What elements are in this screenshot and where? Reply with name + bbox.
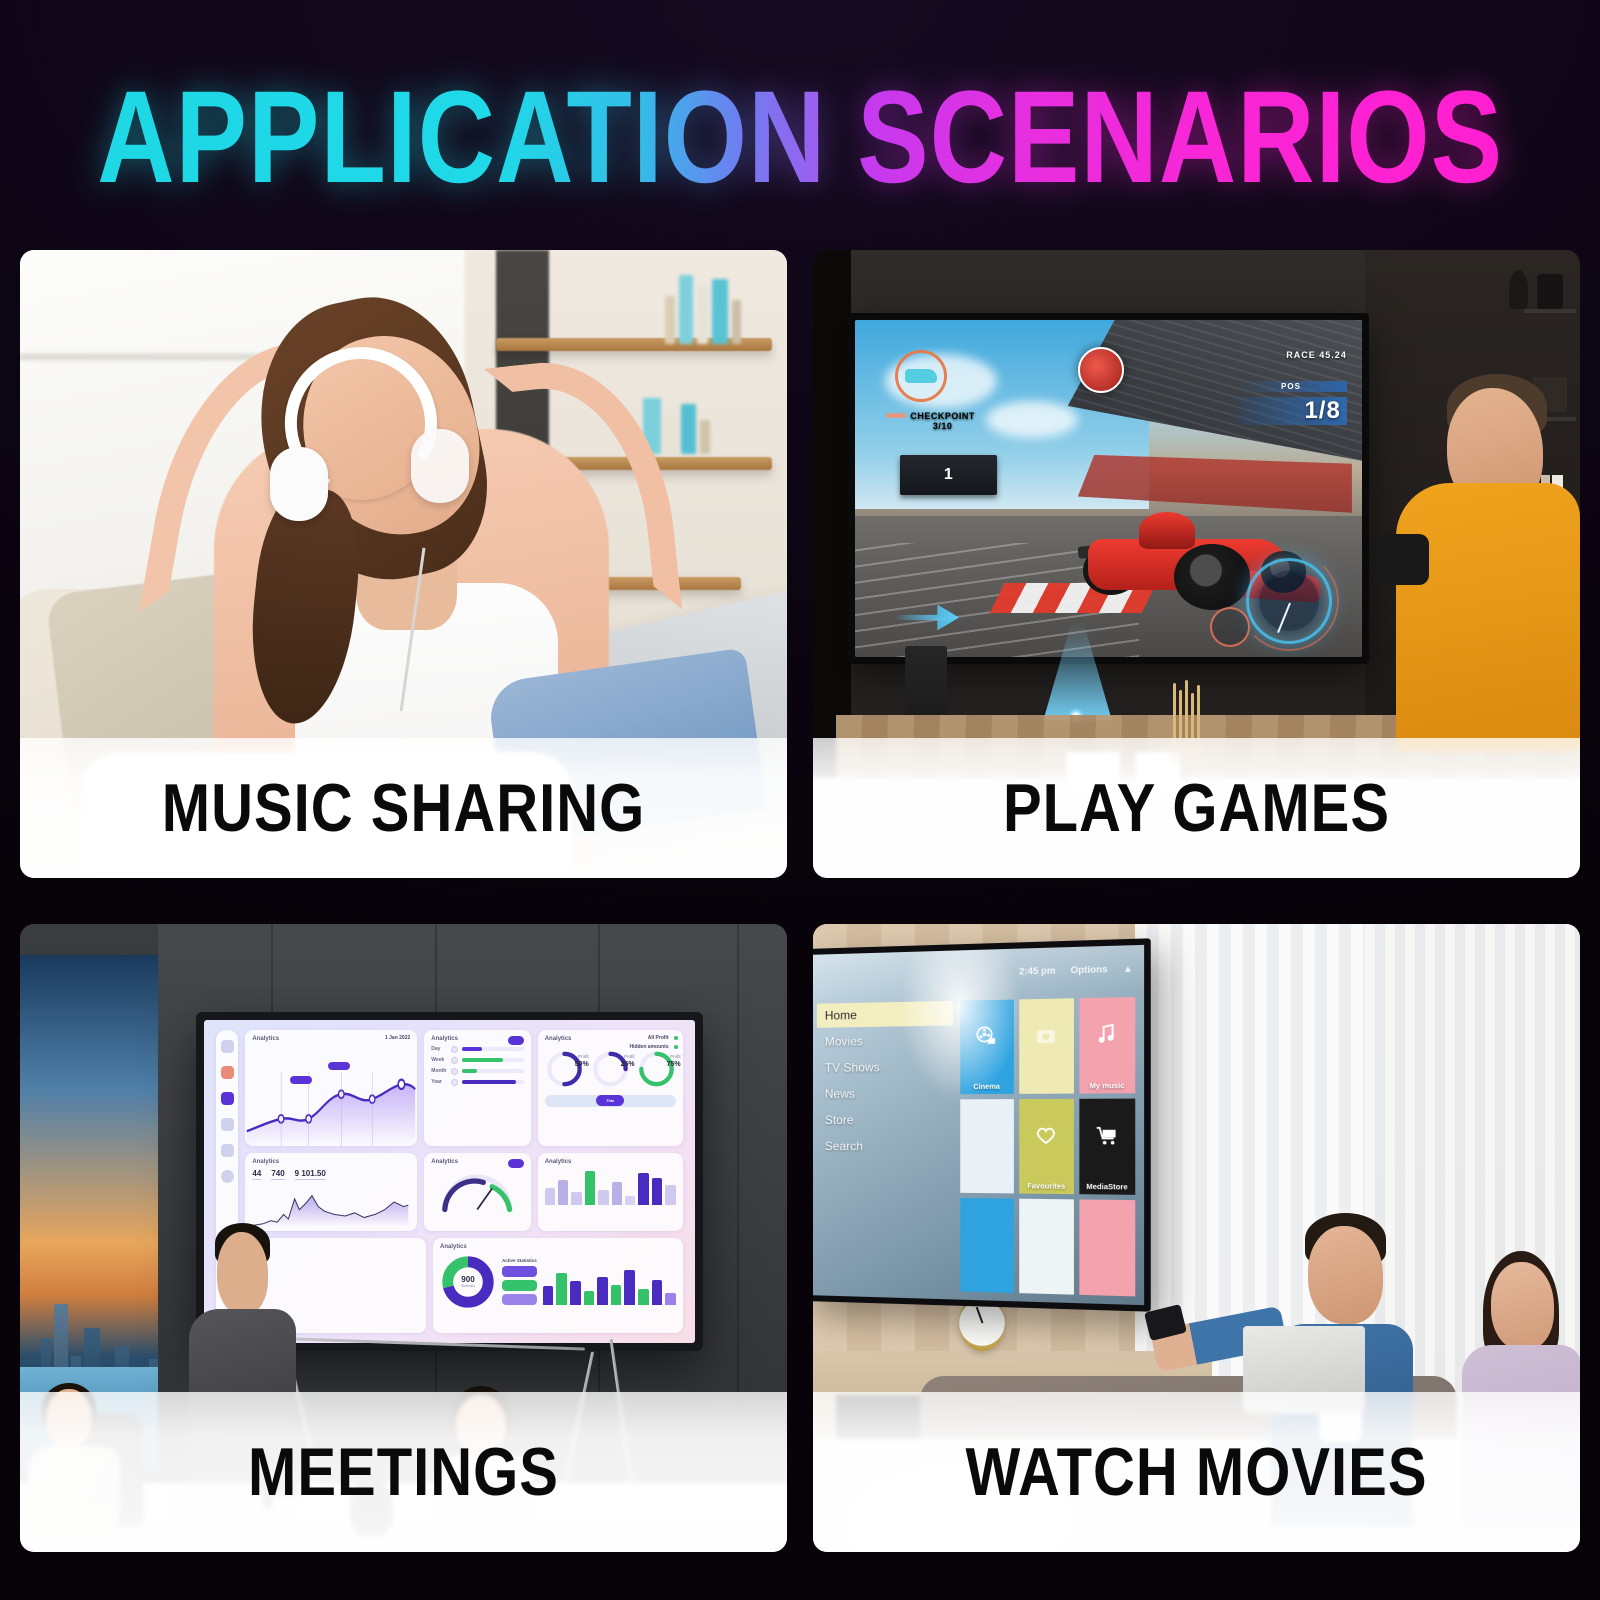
dashboard-card-profit: Analytics All Profit Hidden amounts: [538, 1030, 683, 1146]
heart-icon: [1035, 1125, 1059, 1146]
scenario-grid: MUSIC SHARING: [20, 250, 1580, 1580]
watch-movies-caption: WATCH MOVIES: [965, 1433, 1427, 1511]
period-segmented-control[interactable]: This: [545, 1095, 676, 1107]
tv-menu[interactable]: Home Movies TV Shows News Store Search: [817, 1001, 953, 1291]
game-projector-screen: CHECKPOINT 3/10 1 RACE 45.24 POS 1/8: [848, 313, 1370, 665]
scenario-card-music-sharing[interactable]: MUSIC SHARING: [20, 250, 787, 878]
tv-menu-item-news[interactable]: News: [817, 1081, 953, 1106]
tv-screen: 2:45 pm Options ▲ Home Movies TV Shows N…: [813, 945, 1144, 1305]
hud-race-time: 45.24: [1319, 350, 1347, 360]
bar-chart: [545, 1171, 676, 1205]
tv-top-bar: 2:45 pm Options ▲: [813, 945, 1144, 999]
gamer-person: [1396, 388, 1580, 752]
dashboard-card-stats-title: Analytics: [252, 1159, 410, 1165]
dashboard-card-trend: Analytics 1 Jan 2022: [245, 1030, 417, 1146]
period-label-year: Year: [431, 1079, 447, 1085]
gauge-pill[interactable]: [508, 1159, 524, 1168]
hud-race-label: RACE: [1286, 350, 1316, 360]
film-reel-icon: [975, 1024, 998, 1047]
tv-tile-blank-3[interactable]: [1019, 1199, 1074, 1295]
tv-tile-grid[interactable]: Cinema: [960, 997, 1135, 1296]
music-sharing-caption: MUSIC SHARING: [162, 769, 645, 847]
profit-ring-3-label: Profit: [670, 1054, 681, 1059]
game-controller: [1378, 534, 1430, 585]
hud-car-badge-icon: [1078, 347, 1124, 393]
dashboard-date-label: 1 Jan 2022: [385, 1035, 410, 1041]
dashboard-card-bars-title: Analytics: [545, 1159, 676, 1165]
page-title-part2: SCENARIOS: [857, 65, 1503, 211]
tv-menu-item-search[interactable]: Search: [817, 1134, 953, 1159]
hud-track-board: 1: [900, 455, 996, 496]
page-title-part1: APPLICATION: [97, 65, 826, 211]
tv-tile-cinema[interactable]: Cinema: [960, 1000, 1014, 1094]
meetings-caption-bar: MEETINGS: [20, 1392, 787, 1552]
tv-tile-blank-2[interactable]: [960, 1198, 1014, 1293]
sidebar-icon-profile[interactable]: [221, 1040, 234, 1053]
tv-menu-item-store[interactable]: Store: [817, 1108, 953, 1133]
signal-icon: ▲: [1123, 963, 1133, 974]
sidebar-icon-reports[interactable]: [221, 1092, 234, 1105]
dashboard-card-active-title: Analytics: [440, 1244, 676, 1250]
tv-tile-my-music[interactable]: My music: [1079, 997, 1135, 1093]
scenario-card-watch-movies[interactable]: 2:45 pm Options ▲ Home Movies TV Shows N…: [813, 924, 1580, 1552]
tv-menu-item-home[interactable]: Home: [817, 1001, 953, 1028]
scenario-card-meetings[interactable]: Analytics 1 Jan 2022: [20, 924, 787, 1552]
dashboard-card-periods: Analytics Day Week Month Year: [424, 1030, 530, 1146]
hud-race-timer: RACE 45.24: [1286, 350, 1347, 360]
sidebar-icon-settings[interactable]: [221, 1170, 234, 1183]
music-sharing-caption-bar: MUSIC SHARING: [20, 738, 787, 878]
tv-tile-mediastore[interactable]: MediaStore: [1079, 1099, 1135, 1195]
smart-tv: 2:45 pm Options ▲ Home Movies TV Shows N…: [813, 938, 1151, 1311]
donut-chart: 900 Statistics: [440, 1254, 496, 1310]
tv-tile-blank-1[interactable]: [960, 1099, 1014, 1193]
stat-value-2: 740: [271, 1169, 284, 1180]
active-statistics-chips: Active Statistics: [502, 1258, 537, 1305]
scenario-card-play-games[interactable]: CHECKPOINT 3/10 1 RACE 45.24 POS 1/8: [813, 250, 1580, 878]
tv-clock: 2:45 pm: [1019, 965, 1055, 976]
camera-icon: [1036, 1026, 1057, 1045]
dashboard-card-stats: Analytics 44 740 9 101.50: [245, 1153, 417, 1231]
hud-position-label: POS: [1235, 381, 1347, 392]
hud-checkpoint-label: CHECKPOINT: [910, 411, 975, 421]
sidebar-icon-users[interactable]: [221, 1144, 234, 1157]
profit-ring-3-value: 75%: [667, 1061, 681, 1068]
play-games-caption-bar: PLAY GAMES: [813, 738, 1580, 878]
tv-tile-photos[interactable]: [1019, 999, 1074, 1094]
dashboard-card-active-stats: Analytics: [433, 1238, 683, 1333]
tv-tile-my-music-label: My music: [1090, 1083, 1125, 1091]
tv-tile-favourites-label: Favourites: [1028, 1183, 1066, 1191]
hud-checkpoint: CHECKPOINT 3/10: [910, 411, 975, 431]
stat-value-1: 44: [252, 1169, 261, 1180]
page-title: APPLICATION SCENARIOS: [0, 72, 1600, 177]
tv-tile-blank-4[interactable]: [1079, 1199, 1135, 1296]
hud-board-number: 1: [944, 466, 953, 484]
period-label-week: Week: [431, 1057, 447, 1063]
all-profit-label: All Profit: [648, 1035, 669, 1041]
tv-tile-mediastore-label: MediaStore: [1087, 1184, 1128, 1192]
shopping-cart-icon: [1095, 1125, 1119, 1146]
profit-ring-2-label: Profit: [624, 1054, 635, 1059]
profit-ring-3: Profit 75%: [637, 1049, 676, 1089]
tv-tile-cinema-label: Cinema: [974, 1084, 1001, 1091]
dashboard-card-bars: Analytics: [538, 1153, 683, 1231]
poster-root: APPLICATION SCENARIOS APPLICATION SCENAR…: [0, 0, 1600, 1600]
profit-ring-1-label: Profit: [578, 1054, 589, 1059]
period-label-month: Month: [431, 1068, 447, 1074]
tv-options-button[interactable]: Options: [1071, 964, 1108, 975]
profit-ring-1: Profit 50%: [545, 1049, 584, 1089]
active-statistics-label: Active Statistics: [502, 1258, 537, 1263]
profit-ring-2: Profit 25%: [591, 1049, 630, 1089]
play-games-caption: PLAY GAMES: [1003, 769, 1390, 847]
tv-menu-item-movies[interactable]: Movies: [817, 1028, 953, 1054]
stat-value-3: 9 101.50: [295, 1169, 326, 1180]
music-note-icon: [1097, 1023, 1117, 1044]
period-selected[interactable]: This: [596, 1095, 624, 1106]
meetings-caption: MEETINGS: [248, 1433, 559, 1511]
donut-sub: Statistics: [461, 1284, 475, 1288]
hud-speedometer-icon: [1246, 558, 1332, 644]
profit-ring-2-value: 25%: [621, 1061, 635, 1068]
hud-checkpoint-value: 3/10: [910, 421, 975, 431]
profit-ring-1-value: 50%: [575, 1061, 589, 1068]
periods-pill[interactable]: [508, 1036, 524, 1045]
tv-tile-favourites[interactable]: Favourites: [1019, 1099, 1074, 1194]
hud-position-value: 1/8: [1235, 397, 1347, 425]
sidebar-icon-wallet[interactable]: [221, 1118, 234, 1131]
dashboard-card-gauge: Analytics: [424, 1153, 530, 1231]
sidebar-icon-home[interactable]: [221, 1066, 234, 1079]
period-label-day: Day: [431, 1046, 447, 1052]
tv-menu-item-tv-shows[interactable]: TV Shows: [817, 1054, 953, 1080]
donut-value: 900: [461, 1275, 474, 1284]
hud-car-ring-icon: [895, 350, 947, 402]
watch-movies-caption-bar: WATCH MOVIES: [813, 1392, 1580, 1552]
